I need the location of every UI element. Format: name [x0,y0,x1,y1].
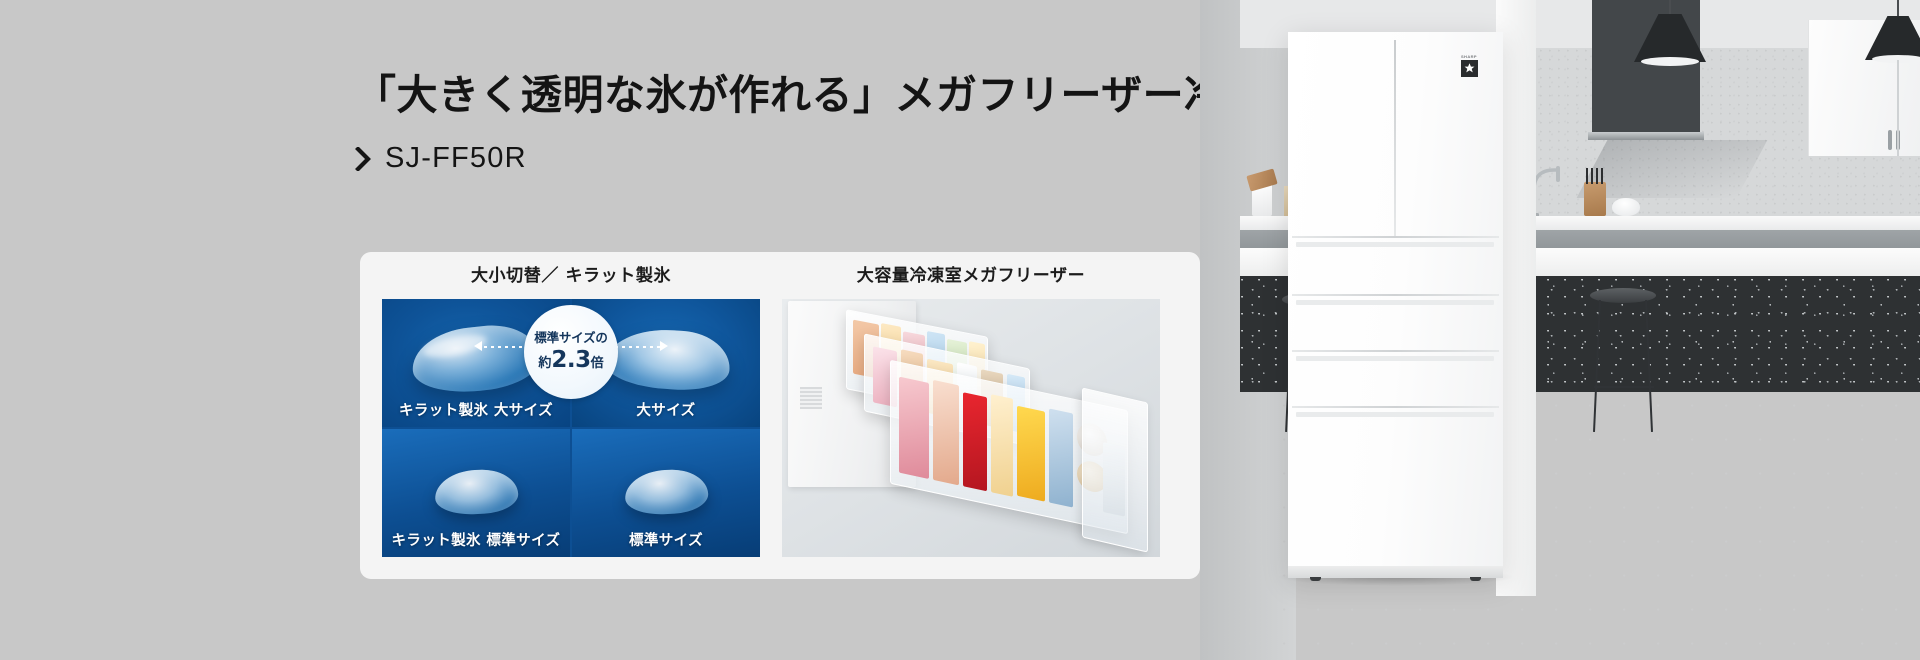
feature-card: 大小切替／ キラット製氷 キラット製氷 大サイズ 大サイズ キラット製氷 標準サ… [360,252,1200,579]
promo-banner: 「大きく透明な氷が作れる」メガフリーザー冷蔵庫。 SJ-FF50R 大小切替／ … [0,0,1920,660]
food-item [991,394,1013,497]
brand-logo: SHARP [1456,54,1482,77]
ice-comparison-grid: キラット製氷 大サイズ 大サイズ キラット製氷 標準サイズ 標準サイズ [382,299,760,557]
panel-mega-freezer: 大容量冷凍室メガフリーザー [782,268,1160,559]
stool-leg [1593,300,1601,432]
freezer-drawers-photo [782,299,1160,557]
knives [1586,168,1605,184]
model-number: SJ-FF50R [385,142,527,175]
badge-suffix: 倍 [591,357,604,370]
fridge-handle[interactable] [1296,300,1494,305]
ice-cube-kirat-large [409,321,543,398]
panel-ice-making: 大小切替／ キラット製氷 キラット製氷 大サイズ 大サイズ キラット製氷 標準サ… [382,268,760,559]
ice-label-bottom-left: キラット製氷 標準サイズ [382,529,570,550]
badge-ratio: 約 2.3 倍 [538,349,603,372]
knife-block [1584,182,1606,216]
pendant-light-glow [1872,55,1920,63]
badge-arrow-left-icon [474,341,482,351]
pendant-shade [1865,16,1920,60]
pendant-cord [1669,0,1671,14]
fridge-handle[interactable] [1296,242,1494,247]
chevron-right-icon [355,147,372,171]
ice-cube-standard [624,468,709,516]
ice-cube-kirat-standard [434,468,519,516]
food-item [933,380,959,486]
photo-vent [800,387,822,409]
food-item [899,377,929,479]
cabinet-handle-icon[interactable] [1888,130,1892,150]
badge-prefix: 約 [538,357,551,370]
food-item [1049,409,1073,508]
model-link[interactable]: SJ-FF50R [355,142,1255,175]
range-hood-lip [1588,132,1704,140]
fridge-divider [1292,406,1499,408]
fridge-foot [1470,577,1481,581]
stool-leg [1645,300,1653,432]
food-item [963,392,987,491]
sharp-mark-icon [1461,60,1478,77]
fridge-door-gap [1394,40,1396,236]
fridge-foot [1310,577,1321,581]
fridge-divider [1292,294,1499,296]
bar-stool-3 [1590,288,1656,432]
pendant-cord [1897,0,1899,16]
pendant-shade [1634,14,1706,62]
stool-rung [1594,386,1654,388]
panel-title-ice: 大小切替／ キラット製氷 [382,268,760,285]
bowl [1612,198,1640,216]
ice-label-top-right: 大サイズ [572,399,760,420]
pendant-lower-cord [1897,60,1899,156]
panel-title-freezer: 大容量冷凍室メガフリーザー [782,268,1160,285]
ice-label-bottom-right: 標準サイズ [572,529,760,550]
pendant-lamp-left [1628,0,1712,78]
badge-number: 2.3 [551,349,590,372]
fridge-handle[interactable] [1296,356,1494,361]
food-item [1017,406,1045,502]
badge-top-text: 標準サイズの [534,332,607,345]
fridge-handle[interactable] [1296,412,1494,417]
ice-quadrant-bottom-left: キラット製氷 標準サイズ [382,429,570,557]
photo-drawer-front [1082,387,1148,552]
ice-cube-standard-large [604,325,732,392]
brand-logo-text: SHARP [1456,54,1482,59]
badge-arrow-right-icon [660,341,668,351]
size-ratio-badge: 標準サイズの 約 2.3 倍 [524,305,618,399]
utensils [1246,168,1277,191]
pendant-light-glow [1641,57,1699,66]
fridge-divider [1292,350,1499,352]
fridge-divider [1292,236,1499,238]
refrigerator-hero: SHARP [1288,32,1503,578]
pendant-lamp-right [1860,0,1920,74]
page-title: 「大きく透明な氷が作れる」メガフリーザー冷蔵庫。 [355,70,1255,120]
ice-quadrant-bottom-right: 標準サイズ [572,429,760,557]
copy-block: 「大きく透明な氷が作れる」メガフリーザー冷蔵庫。 SJ-FF50R [355,70,1255,175]
ice-label-top-left: キラット製氷 大サイズ [382,399,570,420]
